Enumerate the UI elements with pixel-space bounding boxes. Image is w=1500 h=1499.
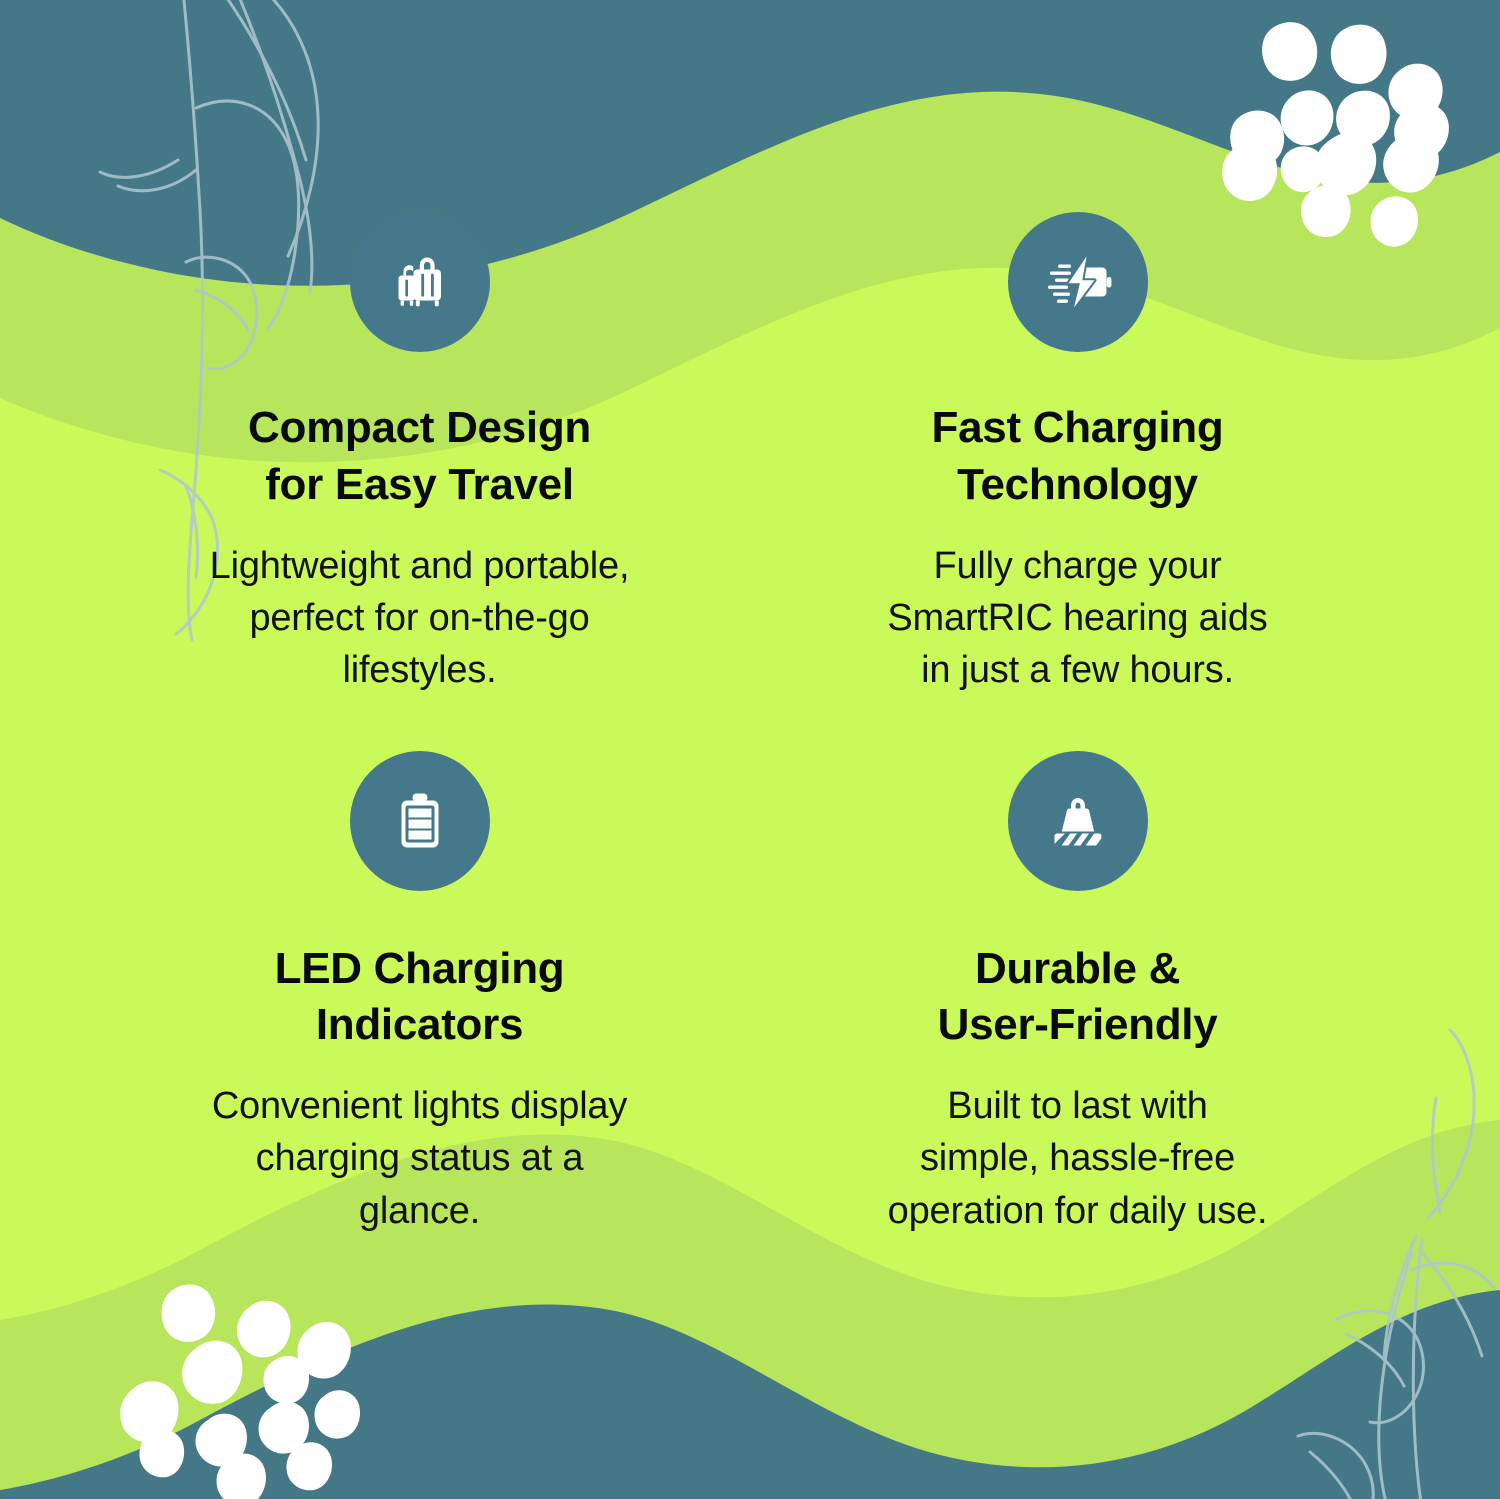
feature-card-led-indicators: LED Charging Indicators Convenient light… <box>95 751 750 1290</box>
weight-durability-icon <box>1008 751 1148 891</box>
feature-card-fast-charging: Fast Charging Technology Fully charge yo… <box>750 212 1405 751</box>
fast-charging-battery-icon <box>1008 212 1148 352</box>
feature-body: Lightweight and portable, perfect for on… <box>210 540 630 697</box>
feature-body: Fully charge your SmartRIC hearing aids … <box>887 540 1267 697</box>
battery-level-icon <box>350 751 490 891</box>
feature-title: LED Charging Indicators <box>275 941 565 1055</box>
luggage-icon <box>350 212 490 352</box>
feature-body: Convenient lights display charging statu… <box>212 1080 627 1237</box>
infographic-canvas: Compact Design for Easy Travel Lightweig… <box>0 0 1500 1499</box>
feature-title: Fast Charging Technology <box>932 400 1224 514</box>
feature-body: Built to last with simple, hassle-free o… <box>888 1080 1268 1237</box>
feature-grid: Compact Design for Easy Travel Lightweig… <box>0 0 1500 1499</box>
feature-title: Compact Design for Easy Travel <box>248 400 591 514</box>
feature-card-durable: Durable & User-Friendly Built to last wi… <box>750 751 1405 1290</box>
feature-card-compact-design: Compact Design for Easy Travel Lightweig… <box>95 212 750 751</box>
feature-title: Durable & User-Friendly <box>938 941 1218 1055</box>
